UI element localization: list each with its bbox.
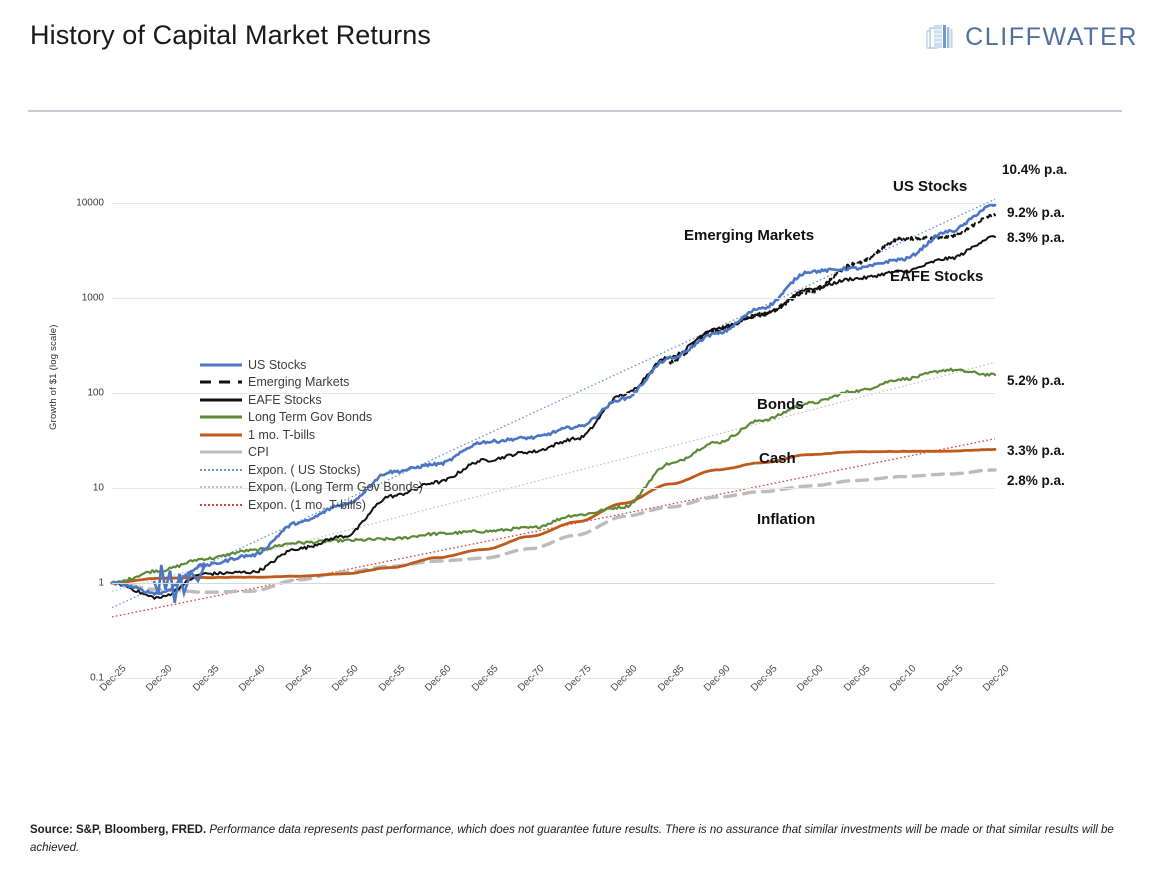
legend-swatch-icon bbox=[200, 359, 242, 371]
legend-item[interactable]: US Stocks bbox=[200, 356, 423, 374]
legend-item[interactable]: CPI bbox=[200, 444, 423, 462]
legend-swatch-icon bbox=[200, 464, 242, 476]
legend-swatch-icon bbox=[200, 481, 242, 493]
gridline bbox=[112, 203, 995, 204]
legend-swatch-icon bbox=[200, 429, 242, 441]
cagr-annotation: 10.4% p.a. bbox=[1002, 162, 1067, 177]
y-tick: 10000 bbox=[76, 198, 104, 209]
y-axis-ticks: 10000 1000 100 10 1 0.1 bbox=[0, 130, 112, 710]
legend-swatch-icon bbox=[200, 376, 242, 388]
capital-market-returns-chart: Growth of $1 (log scale) 10000 1000 100 … bbox=[0, 130, 1150, 710]
cagr-annotation: 9.2% p.a. bbox=[1007, 205, 1065, 220]
cagr-annotation: 3.3% p.a. bbox=[1007, 443, 1065, 458]
legend-label: CPI bbox=[248, 445, 269, 459]
legend-item[interactable]: Expon. (Long Term Gov Bonds) bbox=[200, 479, 423, 497]
series-annotation: Inflation bbox=[757, 511, 815, 528]
title-divider bbox=[28, 110, 1122, 112]
series-annotation: Emerging Markets bbox=[684, 227, 814, 244]
legend-label: Long Term Gov Bonds bbox=[248, 410, 372, 424]
x-axis-line bbox=[112, 583, 995, 584]
legend-label: Emerging Markets bbox=[248, 375, 349, 389]
legend-label: Expon. (Long Term Gov Bonds) bbox=[248, 480, 423, 494]
legend-item[interactable]: Expon. (1 mo. T-bills) bbox=[200, 496, 423, 514]
page-title: History of Capital Market Returns bbox=[30, 20, 431, 51]
chart-legend: US StocksEmerging MarketsEAFE StocksLong… bbox=[200, 356, 423, 514]
legend-swatch-icon bbox=[200, 394, 242, 406]
series-annotation: EAFE Stocks bbox=[890, 268, 983, 285]
legend-item[interactable]: Long Term Gov Bonds bbox=[200, 409, 423, 427]
gridline bbox=[112, 298, 995, 299]
brand-name: CLIFFWATER bbox=[965, 23, 1138, 52]
legend-label: Expon. (1 mo. T-bills) bbox=[248, 498, 366, 512]
legend-item[interactable]: Expon. ( US Stocks) bbox=[200, 461, 423, 479]
legend-label: 1 mo. T-bills bbox=[248, 428, 315, 442]
legend-swatch-icon bbox=[200, 499, 242, 511]
slide-page: History of Capital Market Returns CLIFFW… bbox=[0, 0, 1150, 880]
legend-swatch-icon bbox=[200, 411, 242, 423]
footer-source: Source: S&P, Bloomberg, FRED. bbox=[30, 824, 206, 836]
cliffwater-bars-logo-icon bbox=[926, 22, 956, 52]
legend-label: EAFE Stocks bbox=[248, 393, 322, 407]
y-tick: 10 bbox=[93, 483, 104, 494]
cagr-annotation: 5.2% p.a. bbox=[1007, 373, 1065, 388]
series-annotation: Bonds bbox=[757, 396, 804, 413]
legend-item[interactable]: EAFE Stocks bbox=[200, 391, 423, 409]
series-annotation: US Stocks bbox=[893, 178, 967, 195]
legend-swatch-icon bbox=[200, 446, 242, 458]
brand-logo: CLIFFWATER bbox=[926, 22, 1138, 52]
y-tick: 100 bbox=[87, 388, 104, 399]
legend-label: Expon. ( US Stocks) bbox=[248, 463, 361, 477]
y-tick: 1000 bbox=[82, 293, 104, 304]
y-tick: 1 bbox=[98, 578, 104, 589]
legend-item[interactable]: 1 mo. T-bills bbox=[200, 426, 423, 444]
legend-label: US Stocks bbox=[248, 358, 306, 372]
cagr-annotation: 2.8% p.a. bbox=[1007, 473, 1065, 488]
footer-disclaimer: Source: S&P, Bloomberg, FRED. Performanc… bbox=[30, 822, 1125, 858]
cagr-annotation: 8.3% p.a. bbox=[1007, 230, 1065, 245]
legend-item[interactable]: Emerging Markets bbox=[200, 374, 423, 392]
x-axis-ticks: Dec-25Dec-30Dec-35Dec-40Dec-45Dec-50Dec-… bbox=[112, 686, 1012, 746]
series-annotation: Cash bbox=[759, 450, 796, 467]
